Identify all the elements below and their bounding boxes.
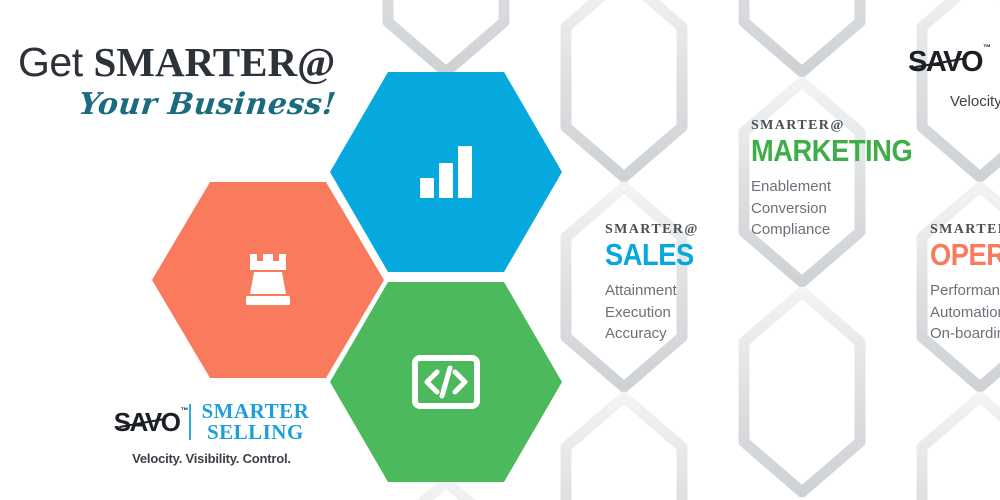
savo-tagline: Velocity. Visibility. Control. (104, 451, 319, 466)
savo-logo: SAVO ™ (114, 409, 180, 435)
pillar-sales-title: SALES (605, 239, 772, 271)
smarter-selling-brand: SMARTER SELLING (201, 401, 309, 442)
list-item: Accuracy (605, 323, 795, 345)
list-item: Conversion (751, 198, 941, 220)
savo-logo-row: SAVO ™ SMARTER SELLING (104, 401, 319, 442)
pillar-operations-title: OPERATIONS (930, 239, 1000, 271)
savo-logo-top-right: SAVO ™ Velocity. Visibility. Control. (908, 48, 1000, 110)
trademark-symbol: ™ (983, 44, 991, 52)
list-item: Compliance (751, 219, 941, 241)
pillar-sales-list: Attainment Execution Accuracy (605, 280, 795, 346)
brand-line-2: SELLING (207, 420, 304, 444)
pillar-marketing: SMARTER@ MARKETING Enablement Conversion… (751, 118, 941, 241)
headline-get-word: Get (18, 39, 93, 85)
pillar-marketing-list: Enablement Conversion Compliance (751, 176, 941, 242)
pillar-marketing-title: MARKETING (751, 135, 918, 167)
trademark-symbol: ™ (180, 407, 188, 415)
pillar-operations-list: Performance Automation On-boarding (930, 280, 1000, 346)
list-item: Automation (930, 302, 1000, 324)
pillar-marketing-eyebrow: SMARTER@ (751, 118, 941, 134)
headline-primary: Get SMARTER@ (18, 42, 358, 83)
smarter-business-infographic: Get SMARTER@ Your Business! SMARTER@ SAL… (0, 0, 1000, 500)
savo-logo: SAVO ™ (908, 46, 982, 78)
headline-block: Get SMARTER@ Your Business! (18, 42, 358, 122)
list-item: On-boarding (930, 323, 1000, 345)
list-item: Performance (930, 280, 1000, 302)
headline-script-line: Your Business! (16, 87, 360, 122)
list-item: Execution (605, 302, 795, 324)
savo-smarter-selling-lockup: SAVO ™ SMARTER SELLING Velocity. Visibil… (104, 401, 319, 466)
pillar-operations-eyebrow: SMARTER@ (930, 222, 1000, 238)
pillar-operations: SMARTER@ OPERATIONS Performance Automati… (930, 222, 1000, 345)
savo-tagline-top-right: Velocity. Visibility. Control. (950, 93, 1000, 110)
list-item: Enablement (751, 176, 941, 198)
vertical-divider (189, 404, 191, 440)
headline-smarter-word: SMARTER@ (93, 39, 335, 85)
list-item: Attainment (605, 280, 795, 302)
